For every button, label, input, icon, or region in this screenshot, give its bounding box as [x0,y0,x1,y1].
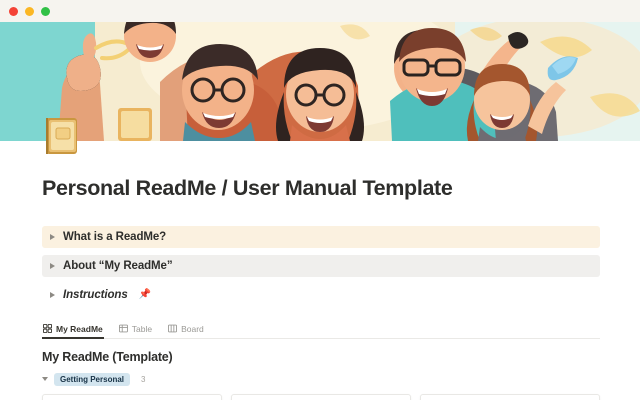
tab-my-readme[interactable]: My ReadMe [42,324,104,338]
tab-board[interactable]: Board [167,324,205,338]
page-body: Personal ReadMe / User Manual Template W… [0,141,640,400]
chevron-right-icon[interactable] [50,292,55,298]
page-title: Personal ReadMe / User Manual Template [42,141,600,201]
chevron-down-icon[interactable] [42,377,48,381]
pushpin-icon: 📌 [139,289,151,300]
toggle-block-label: About “My ReadMe” [63,260,172,272]
toggle-block-label: What is a ReadMe? [63,231,166,243]
close-window-button[interactable] [9,7,18,16]
page-cover-banner[interactable] [0,22,640,141]
toggle-block-label: Instructions [63,289,128,301]
notebook-icon[interactable] [42,115,82,157]
group-name-badge: Getting Personal [54,373,130,387]
board-icon [168,324,177,333]
toggle-block-list: What is a ReadMe? About “My ReadMe” Inst… [42,226,600,306]
list-item[interactable]: Tell us the things or actions that drive… [420,394,600,400]
group-item-count: 3 [141,375,145,384]
tab-label: My ReadMe [56,324,103,334]
chevron-right-icon[interactable] [50,263,55,269]
toggle-block-about-my-readme[interactable]: About “My ReadMe” [42,255,600,277]
inline-database: My ReadMe Table [42,324,600,400]
table-icon [119,324,128,333]
database-title: My ReadMe (Template) [42,350,600,364]
app-window: Personal ReadMe / User Manual Template W… [0,0,640,400]
celebration-illustration [0,22,640,141]
database-view-tabs: My ReadMe Table [42,324,600,339]
gallery-icon [43,324,52,333]
minimize-window-button[interactable] [25,7,34,16]
board-group-header[interactable]: Getting Personal 3 [42,373,600,387]
tab-label: Board [181,324,204,334]
chevron-right-icon[interactable] [50,234,55,240]
tab-table[interactable]: Table [118,324,153,338]
toggle-block-what-is-a-readme[interactable]: What is a ReadMe? [42,226,600,248]
card-list: List the qualities and traits you strive… [42,394,600,400]
window-titlebar [0,0,640,22]
maximize-window-button[interactable] [41,7,50,16]
toggle-block-instructions[interactable]: Instructions 📌 [42,284,600,306]
tab-label: Table [132,324,152,334]
list-item[interactable]: List the qualities and traits you strive… [42,394,222,400]
list-item[interactable]: Think back to a time you were at your be… [231,394,411,400]
